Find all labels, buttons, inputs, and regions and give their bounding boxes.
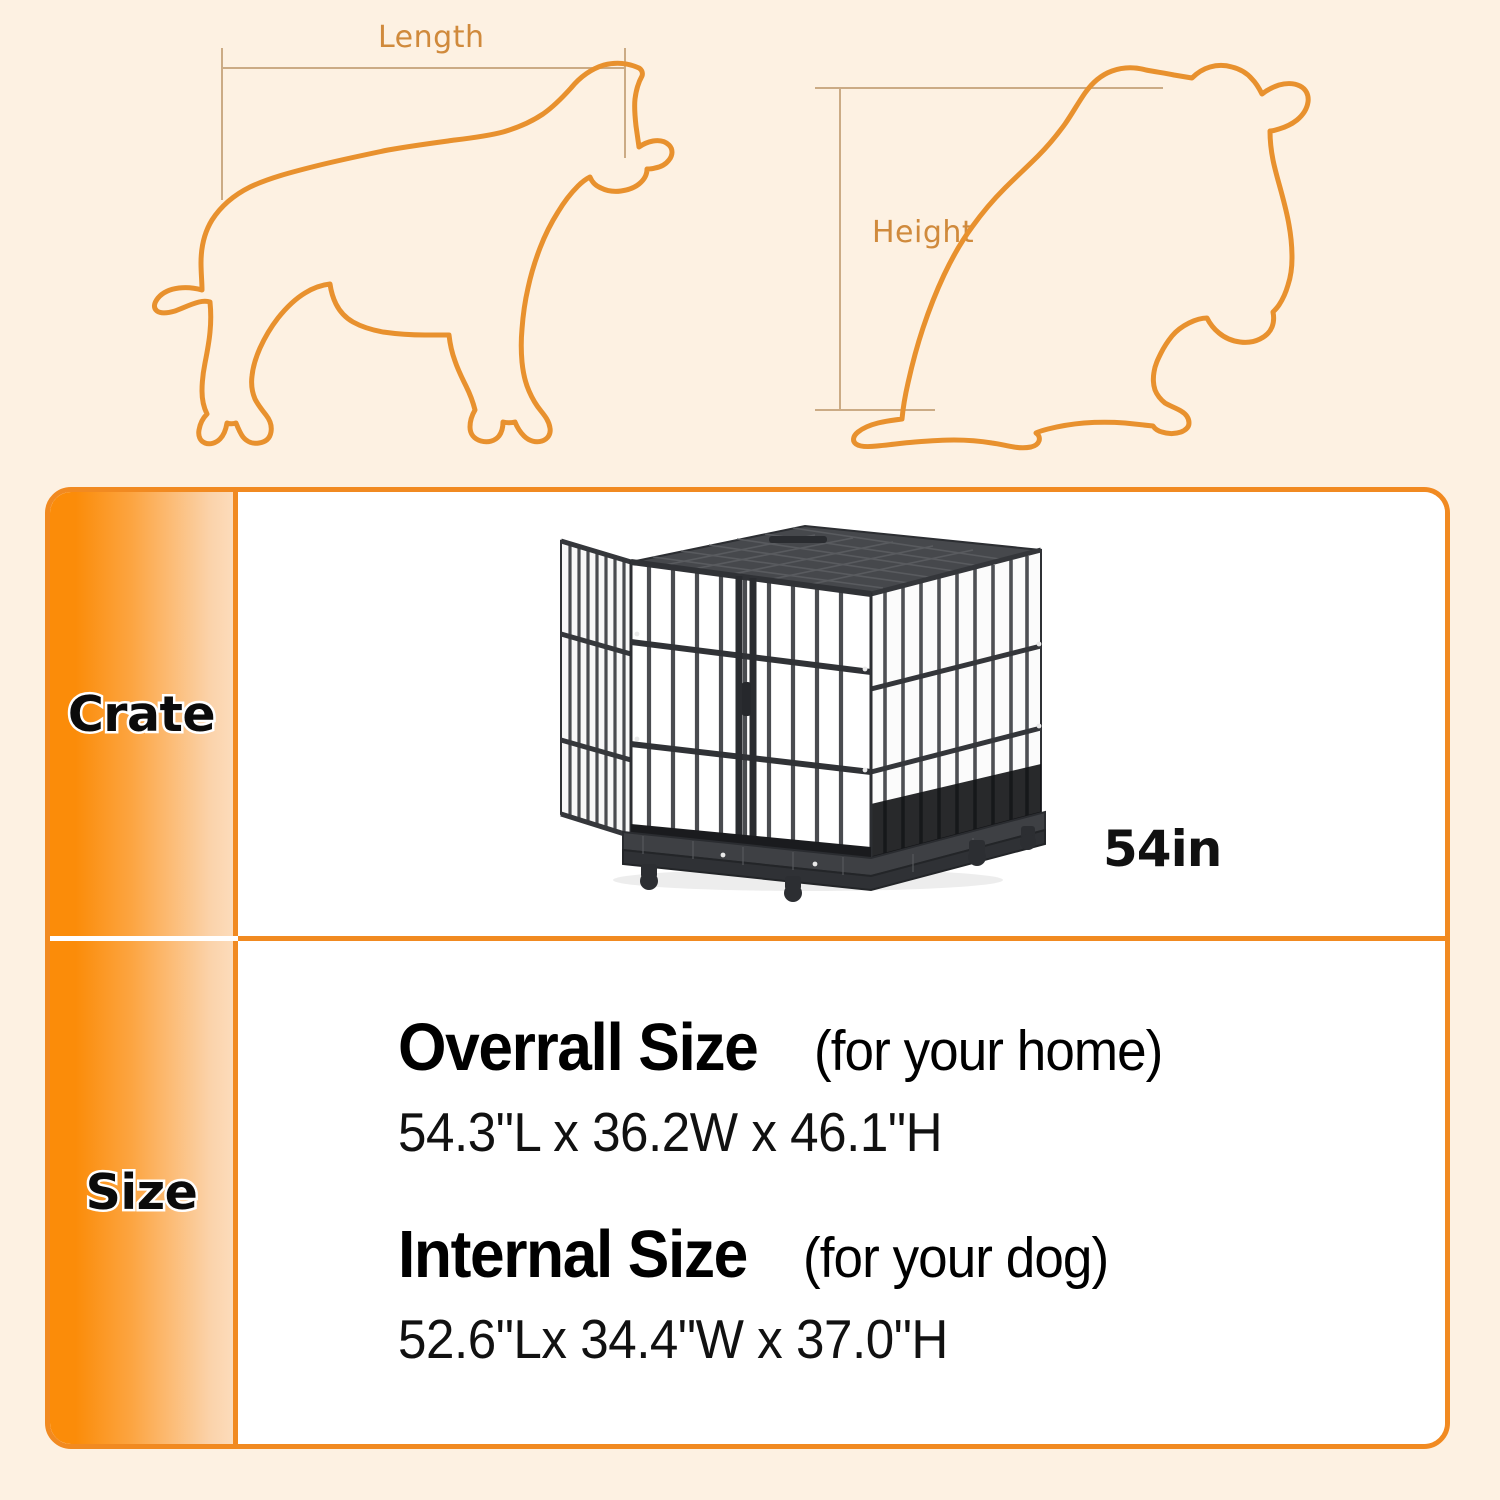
internal-size-dimensions: 52.6"Lx 34.4"W x 37.0"H <box>398 1307 1291 1371</box>
dog-crate-illustration <box>553 514 1048 914</box>
size-row-content: Overrall Size (for your home) 54.3"L x 3… <box>238 941 1445 1444</box>
overall-size-heading: Overrall Size <box>398 1009 757 1086</box>
size-row-label-cell: Size <box>50 941 238 1444</box>
crate-length-callout: 54in <box>1103 820 1221 878</box>
crate-label: Crate <box>68 690 215 739</box>
overall-size-group: Overrall Size (for your home) 54.3"L x 3… <box>398 1009 1358 1164</box>
crate-row-content: 54in <box>238 492 1445 936</box>
overall-size-heading-line: Overrall Size (for your home) <box>398 1009 1358 1086</box>
internal-size-heading-line: Internal Size (for your dog) <box>398 1216 1358 1293</box>
internal-size-heading: Internal Size <box>398 1216 747 1293</box>
size-specifications: Overrall Size (for your home) 54.3"L x 3… <box>398 1009 1358 1371</box>
crate-row-label-cell: Crate <box>50 492 238 936</box>
standing-dog-outline-icon <box>150 50 680 450</box>
overall-size-subheading: (for your home) <box>814 1018 1162 1084</box>
sitting-dog-outline-icon <box>850 58 1340 458</box>
overall-size-dimensions: 54.3"L x 36.2W x 46.1"H <box>398 1100 1291 1164</box>
internal-size-group: Internal Size (for your dog) 52.6"Lx 34.… <box>398 1216 1358 1371</box>
dimension-diagram-section: Length Height <box>0 0 1500 470</box>
size-label: Size <box>86 1168 198 1217</box>
height-dimension-line <box>839 88 841 410</box>
internal-size-subheading: (for your dog) <box>803 1225 1108 1291</box>
specification-card: Crate <box>45 487 1450 1449</box>
size-row: Size Overrall Size (for your home) 54.3"… <box>50 941 1445 1444</box>
crate-row: Crate <box>50 492 1445 936</box>
